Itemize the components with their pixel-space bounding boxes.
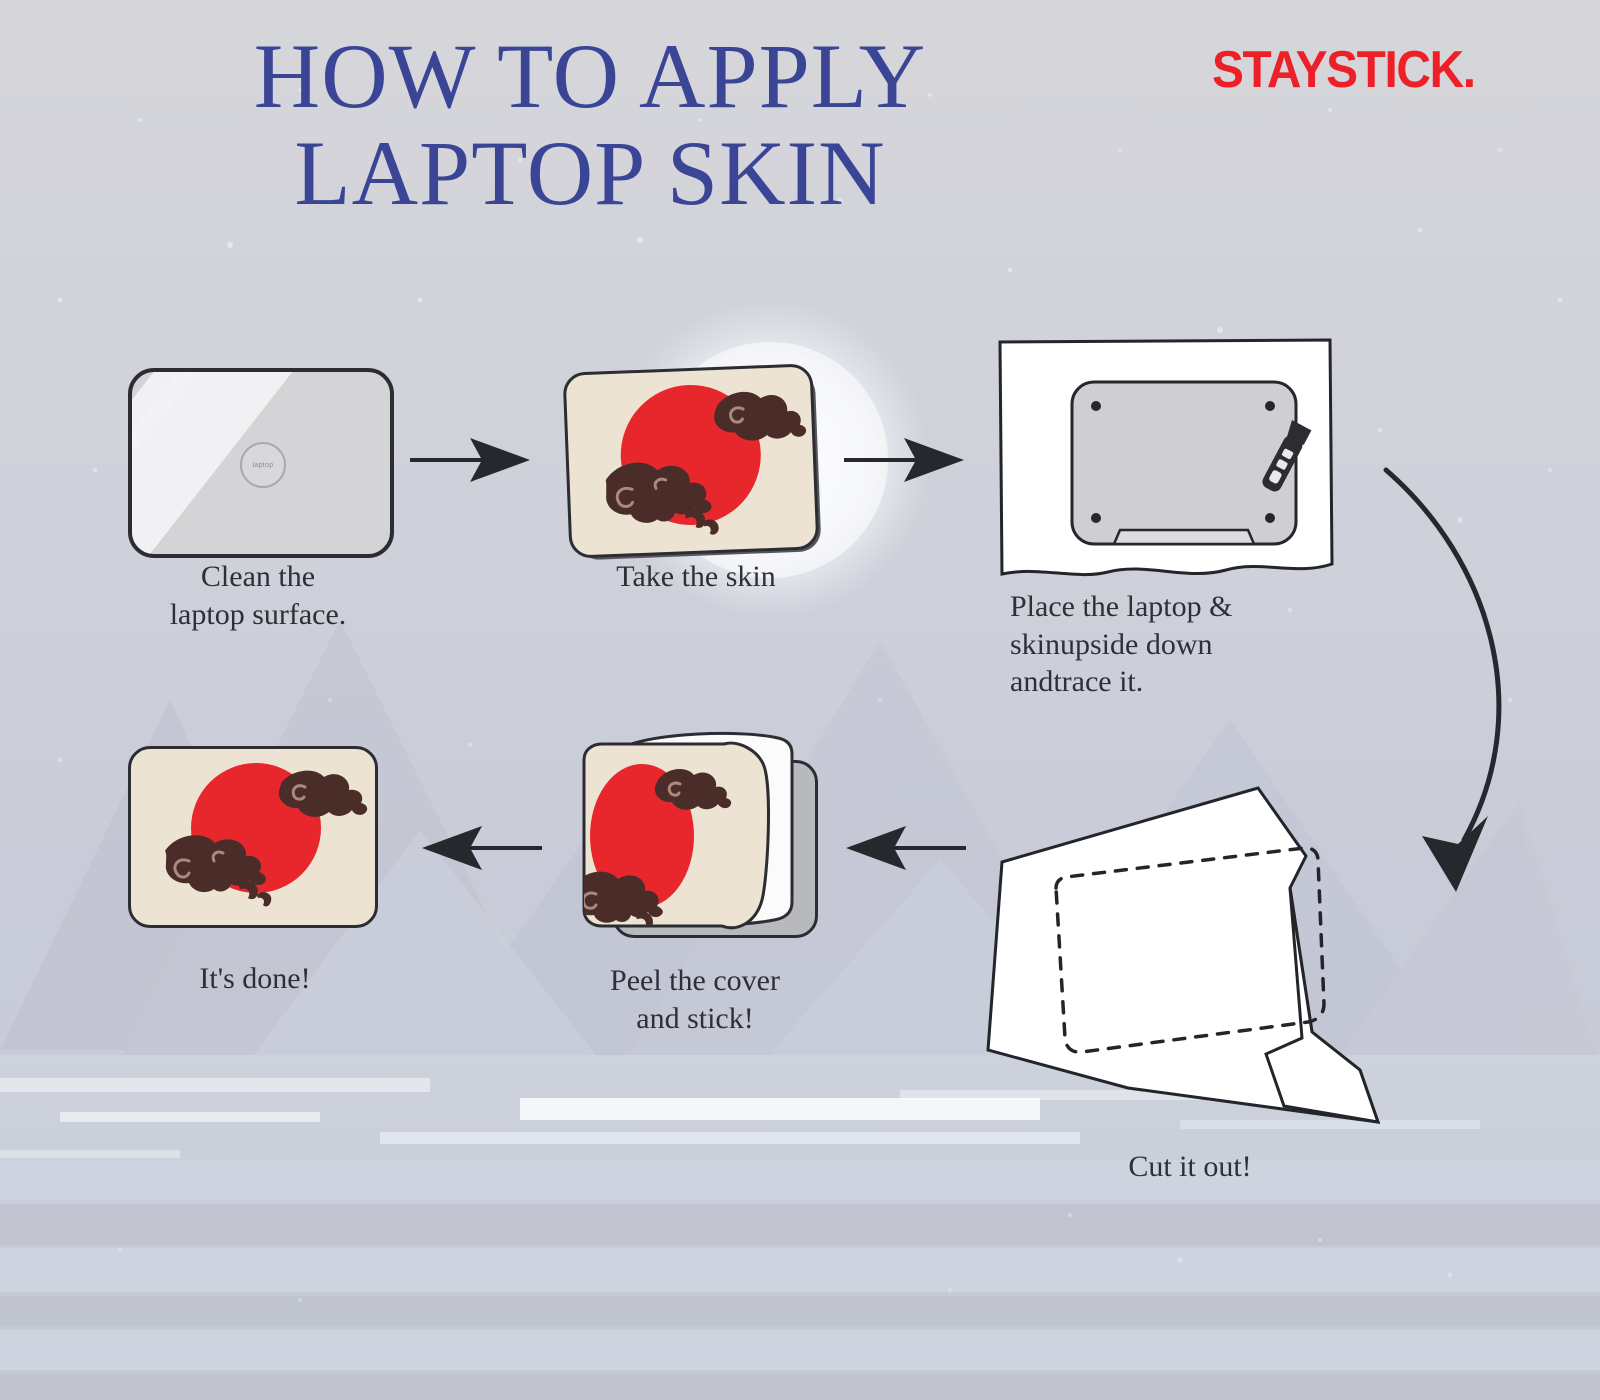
cloud-motifs — [566, 366, 817, 555]
step-take-skin — [563, 363, 820, 558]
caption-peel: Peel the cover and stick! — [500, 962, 890, 1037]
title-line-1: HOW TO APPLY — [254, 25, 927, 127]
step-done — [128, 746, 378, 926]
infographic-canvas: HOW TO APPLY LAPTOP SKIN STAYSTICK. lapt… — [0, 0, 1600, 1400]
step-trace-sheet — [996, 336, 1336, 586]
title-line-2: LAPTOP SKIN — [0, 125, 1180, 222]
step-cut-out — [960, 770, 1400, 1160]
page-title: HOW TO APPLY LAPTOP SKIN — [0, 28, 1180, 221]
caption-done: It's done! — [60, 960, 450, 998]
peel-layers — [560, 726, 820, 936]
rubber-foot — [1091, 513, 1101, 523]
laptop-bottom-case — [1072, 382, 1296, 544]
rubber-foot — [1265, 401, 1275, 411]
caption-cut: Cut it out! — [1000, 1148, 1380, 1186]
vent-strip — [1114, 530, 1254, 544]
caption-take-skin: Take the skin — [506, 558, 886, 596]
arrow-1-2-icon — [408, 430, 538, 490]
step-peel-and-stick — [560, 726, 820, 936]
arrow-2-3-icon — [842, 430, 972, 490]
arrow-5-6-icon — [414, 818, 544, 878]
laptop-lid: laptop — [128, 368, 394, 558]
rubber-foot — [1265, 513, 1275, 523]
cloud-motifs — [131, 749, 375, 925]
rubber-foot — [1091, 401, 1101, 411]
staystick-logo: STAYSTICK. — [1212, 40, 1475, 100]
arrow-4-5-icon — [838, 818, 968, 878]
skin-card — [563, 363, 820, 558]
finished-laptop — [128, 746, 378, 928]
step-clean-laptop: laptop — [128, 368, 386, 550]
laptop-brand-badge: laptop — [240, 442, 286, 488]
caption-clean: Clean the laptop surface. — [68, 558, 448, 633]
